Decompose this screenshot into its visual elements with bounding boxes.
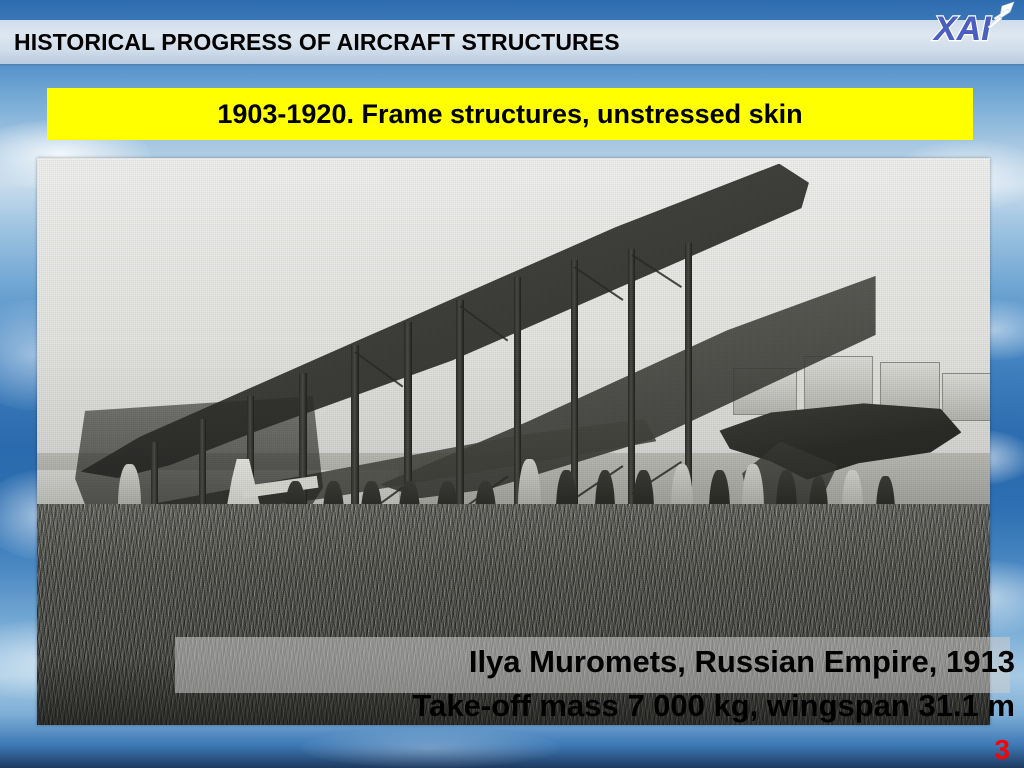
page-number: 3 <box>994 734 1010 766</box>
slide-header-band: HISTORICAL PROGRESS OF AIRCRAFT STRUCTUR… <box>0 20 1024 64</box>
page-title: HISTORICAL PROGRESS OF AIRCRAFT STRUCTUR… <box>14 29 620 56</box>
banner-label: 1903-1920. Frame structures, unstressed … <box>217 99 802 130</box>
photo-silo <box>942 373 990 420</box>
photo-strut <box>628 249 636 504</box>
cloud-decoration <box>300 728 560 768</box>
photo-caption: Ilya Muromets, Russian Empire, 1913 Take… <box>175 640 1015 728</box>
photo-strut <box>456 300 464 521</box>
slide-canvas: HISTORICAL PROGRESS OF AIRCRAFT STRUCTUR… <box>0 0 1024 768</box>
caption-line-2: Take-off mass 7 000 kg, wingspan 31.1 m <box>175 684 1015 728</box>
section-banner: 1903-1920. Frame structures, unstressed … <box>47 88 973 140</box>
photo-strut <box>685 243 692 498</box>
photo-strut <box>571 260 579 509</box>
caption-line-1: Ilya Muromets, Russian Empire, 1913 <box>175 640 1015 684</box>
